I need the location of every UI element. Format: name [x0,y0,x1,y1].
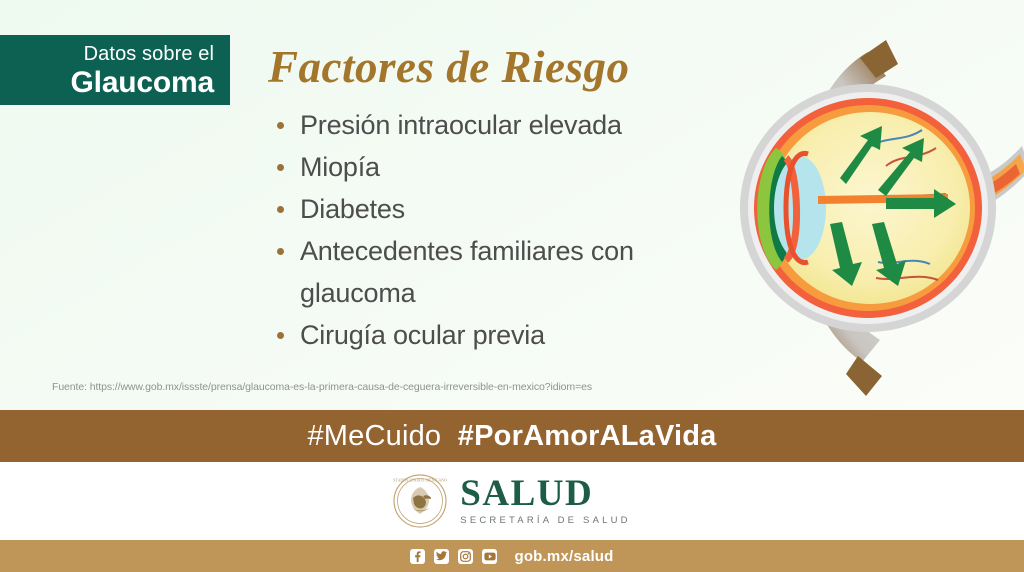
list-item: Presión intraocular elevada [268,104,698,146]
facebook-icon[interactable] [410,549,425,564]
twitter-icon[interactable] [434,549,449,564]
list-item: Cirugía ocular previa [268,314,698,356]
badge-line-2: Glaucoma [10,66,214,100]
source-citation: Fuente: https://www.gob.mx/issste/prensa… [52,381,592,393]
logo-title: SALUD [460,476,630,512]
bullet-dot-icon [277,164,284,171]
badge-line-1: Datos sobre el [10,42,214,66]
salud-logo: ESTADOS UNIDOS MEXICANOS SALUD SECRETARÍ… [393,474,630,528]
content-area: Datos sobre el Glaucoma Factores de Ries… [0,0,1024,410]
logo-subtitle: SECRETARÍA DE SALUD [460,514,630,527]
bullet-dot-icon [277,248,284,255]
lens [774,156,826,260]
infographic-poster: Datos sobre el Glaucoma Factores de Ries… [0,0,1024,572]
logo-text-block: SALUD SECRETARÍA DE SALUD [460,476,630,527]
list-item-label: Antecedentes familiares con glaucoma [300,236,634,308]
bullet-dot-icon [277,122,284,129]
list-item-label: Diabetes [300,194,405,224]
list-item: Diabetes [268,188,698,230]
social-bar: gob.mx/salud [0,540,1024,572]
svg-text:ESTADOS UNIDOS MEXICANOS: ESTADOS UNIDOS MEXICANOS [393,478,447,483]
tendon-bottom [846,356,882,396]
list-item-label: Cirugía ocular previa [300,320,545,350]
page-title: Factores de Riesgo [268,42,629,92]
list-item: Antecedentes familiares con glaucoma [268,230,698,314]
list-item: Miopía [268,146,698,188]
hashtag-primary: #MeCuido [307,420,441,452]
mexican-national-seal-icon: ESTADOS UNIDOS MEXICANOS [393,474,447,528]
risk-factor-list: Presión intraocular elevada Miopía Diabe… [268,104,698,356]
list-item-label: Miopía [300,152,380,182]
eye-anatomy-illustration [690,18,1024,398]
hashtag-text: #MeCuido #PorAmorALaVida [307,420,716,453]
topic-badge: Datos sobre el Glaucoma [0,35,230,105]
bullet-dot-icon [277,206,284,213]
social-url[interactable]: gob.mx/salud [514,548,613,565]
youtube-icon[interactable] [482,549,497,564]
list-item-label: Presión intraocular elevada [300,110,622,140]
hashtag-band: #MeCuido #PorAmorALaVida [0,410,1024,462]
instagram-icon[interactable] [458,549,473,564]
bullet-dot-icon [277,332,284,339]
hashtag-secondary: #PorAmorALaVida [458,420,717,452]
logo-band: ESTADOS UNIDOS MEXICANOS SALUD SECRETARÍ… [0,462,1024,540]
